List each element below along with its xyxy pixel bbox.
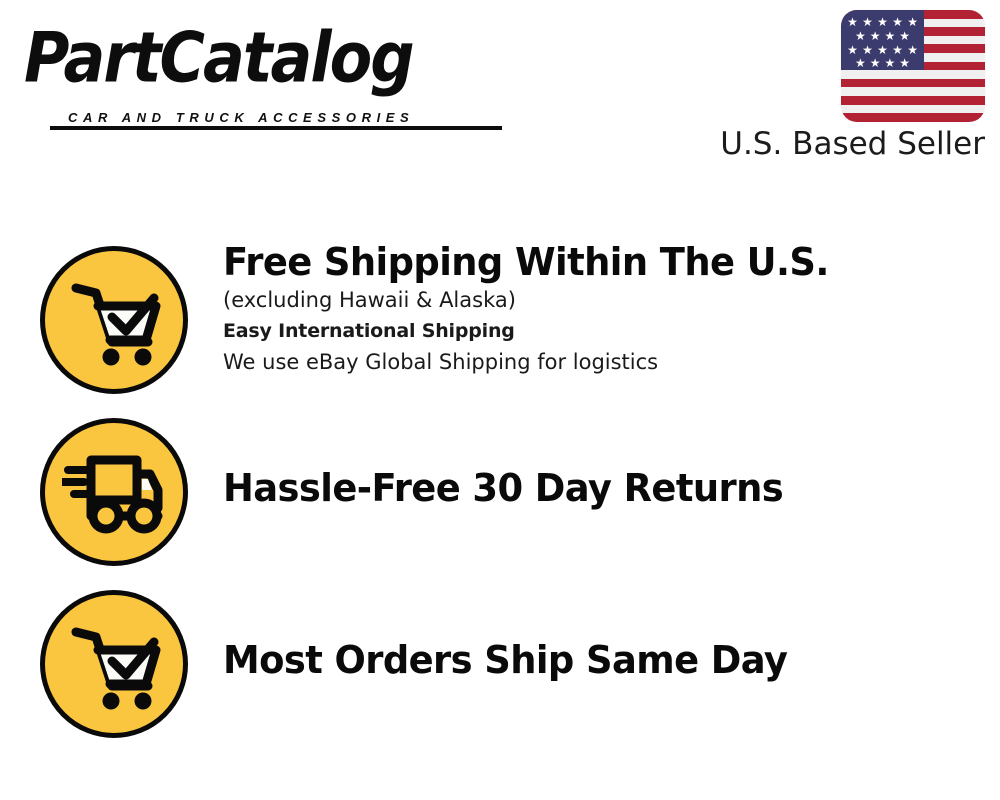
feature-headline: Free Shipping Within The U.S. [223,240,829,284]
us-based-seller-block: ★★★★★ ★★★★ ★★★★★ ★★★★ U.S. Based Seller [715,10,985,162]
feature-text-free-shipping: Free Shipping Within The U.S. (excluding… [223,240,848,378]
promo-banner: PartCatalog CAR AND TRUCK ACCESSORIES ★★… [0,0,1000,800]
feature-subdetail: We use eBay Global Shipping for logistic… [223,346,848,378]
flag-canton: ★★★★★ ★★★★ ★★★★★ ★★★★ [841,10,924,70]
feature-text-returns: Hassle-Free 30 Day Returns [223,466,800,510]
delivery-truck-icon [40,418,188,566]
feature-headline: Hassle-Free 30 Day Returns [223,466,783,510]
feature-row-free-shipping: Free Shipping Within The U.S. (excluding… [40,246,848,394]
feature-subheading: Easy International Shipping [223,316,848,346]
feature-row-returns: Hassle-Free 30 Day Returns [40,418,800,566]
feature-text-same-day: Most Orders Ship Same Day [223,638,805,682]
feature-subnote: (excluding Hawaii & Alaska) [223,284,848,316]
brand-underline [50,126,502,130]
us-flag-icon: ★★★★★ ★★★★ ★★★★★ ★★★★ [841,10,985,122]
shopping-cart-check-icon [40,590,188,738]
feature-headline: Most Orders Ship Same Day [223,638,787,682]
shopping-cart-check-icon [40,246,188,394]
feature-row-same-day: Most Orders Ship Same Day [40,590,805,738]
brand-tagline: CAR AND TRUCK ACCESSORIES [68,110,414,125]
brand-logo: PartCatalog CAR AND TRUCK ACCESSORIES [24,22,494,122]
us-based-seller-label: U.S. Based Seller [715,126,985,162]
brand-wordmark: PartCatalog [24,22,494,94]
